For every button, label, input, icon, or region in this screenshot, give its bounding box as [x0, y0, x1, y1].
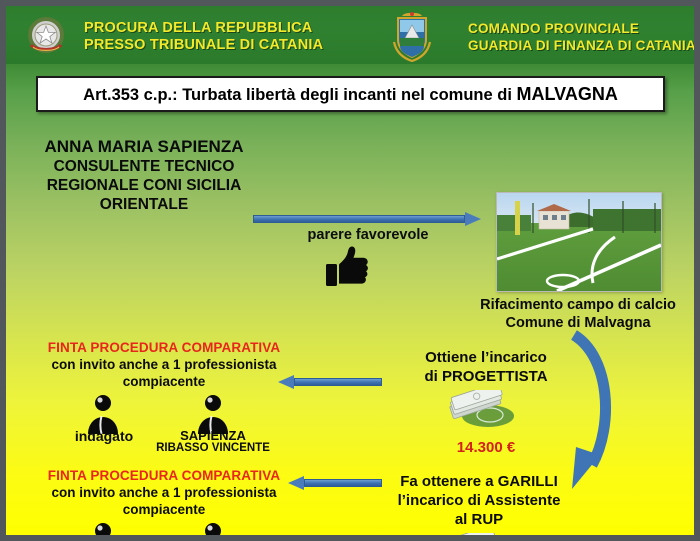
slide-root: PROCURA DELLA REPUBBLICA PRESSO TRIBUNAL… — [0, 0, 700, 541]
slide-frame — [0, 0, 700, 541]
